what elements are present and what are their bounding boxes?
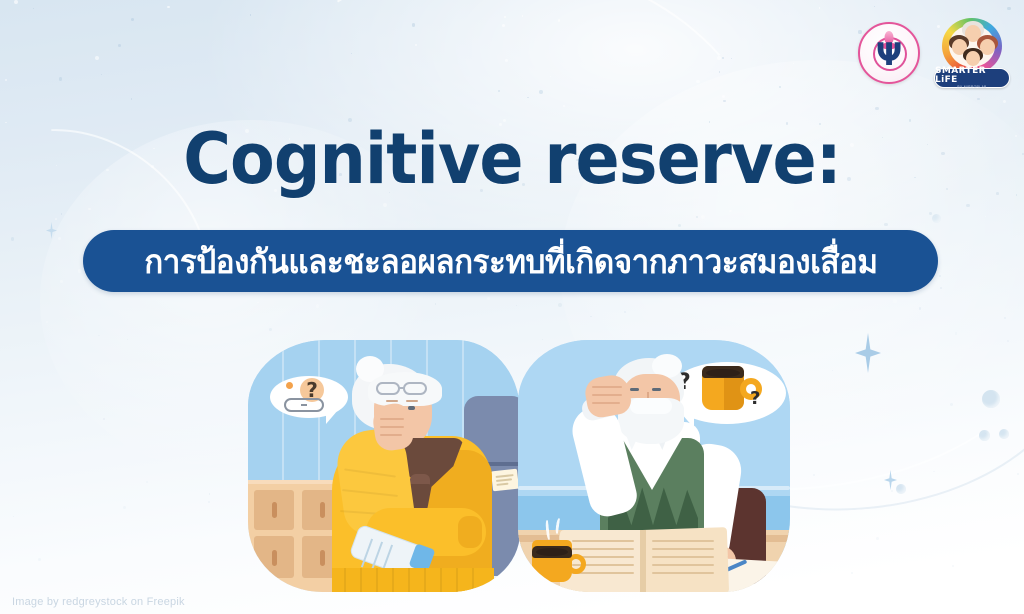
background-speck [383, 203, 387, 207]
background-speck [1007, 7, 1011, 11]
background-speck [118, 44, 121, 47]
background-speck [909, 119, 911, 121]
subtitle-thai-text: การป้องกันและชะลอผลกระทบที่เกิดจากภาวะสม… [144, 245, 877, 278]
background-speck [1016, 194, 1018, 196]
poster-canvas: Ψ SMARTER LiFE BY MIRRORLAB Cognitive re… [0, 0, 1024, 614]
glasses-icon [376, 382, 400, 395]
background-speck [696, 80, 700, 84]
background-speck [722, 95, 725, 98]
psi-glyph: Ψ [860, 40, 918, 71]
background-speck [977, 98, 980, 101]
background-speck [435, 303, 437, 305]
background-speck [701, 215, 705, 219]
background-speck [5, 122, 7, 124]
background-speck [167, 6, 170, 9]
background-speck [5, 79, 7, 81]
background-speck [527, 97, 529, 99]
background-speck [717, 56, 721, 60]
background-speck [678, 224, 681, 227]
illustration-elderly-woman-kitchen: ? [248, 340, 520, 592]
background-bubble [932, 214, 941, 223]
background-speck [505, 59, 508, 62]
background-speck [131, 98, 133, 100]
background-speck [722, 57, 725, 60]
background-speck [563, 105, 565, 107]
background-speck [131, 18, 134, 21]
background-speck [14, 0, 18, 4]
background-speck [996, 192, 999, 195]
smarter-life-badge: SMARTER LiFE BY MIRRORLAB [934, 68, 1010, 88]
background-speck [590, 316, 592, 318]
background-speck [558, 19, 560, 21]
background-speck [415, 44, 417, 46]
background-speck [884, 223, 888, 227]
background-speck [55, 218, 57, 220]
background-speck [351, 53, 353, 55]
background-speck [966, 204, 970, 208]
background-speck [874, 6, 875, 7]
background-speck [33, 8, 34, 9]
background-speck [731, 58, 732, 59]
background-speck [516, 305, 517, 306]
smarter-life-logo[interactable]: SMARTER LiFE BY MIRRORLAB [934, 18, 1010, 88]
background-speck [940, 287, 943, 290]
page-title: Cognitive reserve: [36, 124, 988, 194]
background-speck [502, 24, 505, 27]
background-speck [558, 303, 562, 307]
background-speck [522, 15, 524, 17]
background-speck [719, 71, 720, 72]
background-speck [919, 307, 921, 309]
background-speck [1003, 100, 1006, 103]
background-speck [61, 213, 63, 215]
background-speck [939, 275, 941, 277]
glasses-icon [284, 398, 324, 412]
background-speck [46, 321, 48, 323]
background-speck [929, 212, 932, 215]
smarter-life-tagline: BY MIRRORLAB [957, 86, 986, 89]
smarter-life-title: SMARTER LiFE [935, 67, 1009, 85]
background-speck [98, 335, 100, 337]
background-speck [953, 291, 955, 293]
image-credit: Image by redgreystock on Freepik [12, 596, 185, 608]
background-speck [78, 269, 82, 273]
logo-group: Ψ SMARTER LiFE BY MIRRORLAB [858, 18, 1010, 88]
background-speck [893, 299, 897, 303]
background-speck [316, 304, 320, 308]
background-speck [234, 213, 235, 214]
background-speck [875, 107, 879, 111]
background-speck [624, 311, 626, 313]
background-speck [412, 23, 415, 26]
background-speck [550, 76, 551, 77]
background-speck [985, 216, 987, 218]
question-mark-glyph: ? [750, 388, 760, 409]
sparkle-icon [46, 222, 57, 239]
background-speck [539, 90, 543, 94]
background-speck [11, 237, 15, 241]
glasses-icon [403, 382, 427, 395]
background-speck [95, 56, 99, 60]
background-speck [58, 237, 61, 240]
background-speck [819, 7, 820, 8]
background-speck [1015, 135, 1017, 137]
background-speck [504, 16, 506, 18]
background-speck [723, 100, 725, 102]
background-speck [60, 280, 64, 284]
illustration-elderly-man-desk: ? ? [518, 340, 790, 592]
psi-torch-icon[interactable]: Ψ [858, 22, 920, 84]
background-speck [101, 74, 102, 75]
background-speck [257, 302, 259, 304]
background-speck [729, 210, 731, 212]
background-speck [88, 208, 90, 210]
background-speck [696, 216, 698, 218]
subtitle-banner: การป้องกันและชะลอผลกระทบที่เกิดจากภาวะสม… [83, 230, 938, 292]
background-speck [1004, 317, 1006, 319]
background-speck [487, 297, 491, 301]
background-speck [269, 328, 272, 331]
background-speck [498, 90, 500, 92]
background-speck [250, 14, 252, 16]
background-speck [763, 302, 764, 303]
background-speck [955, 332, 958, 335]
background-speck [793, 63, 794, 64]
background-speck [779, 86, 781, 88]
background-speck [59, 77, 63, 81]
family-faces-icon [947, 24, 997, 70]
illustration-row: ? [0, 340, 1024, 596]
